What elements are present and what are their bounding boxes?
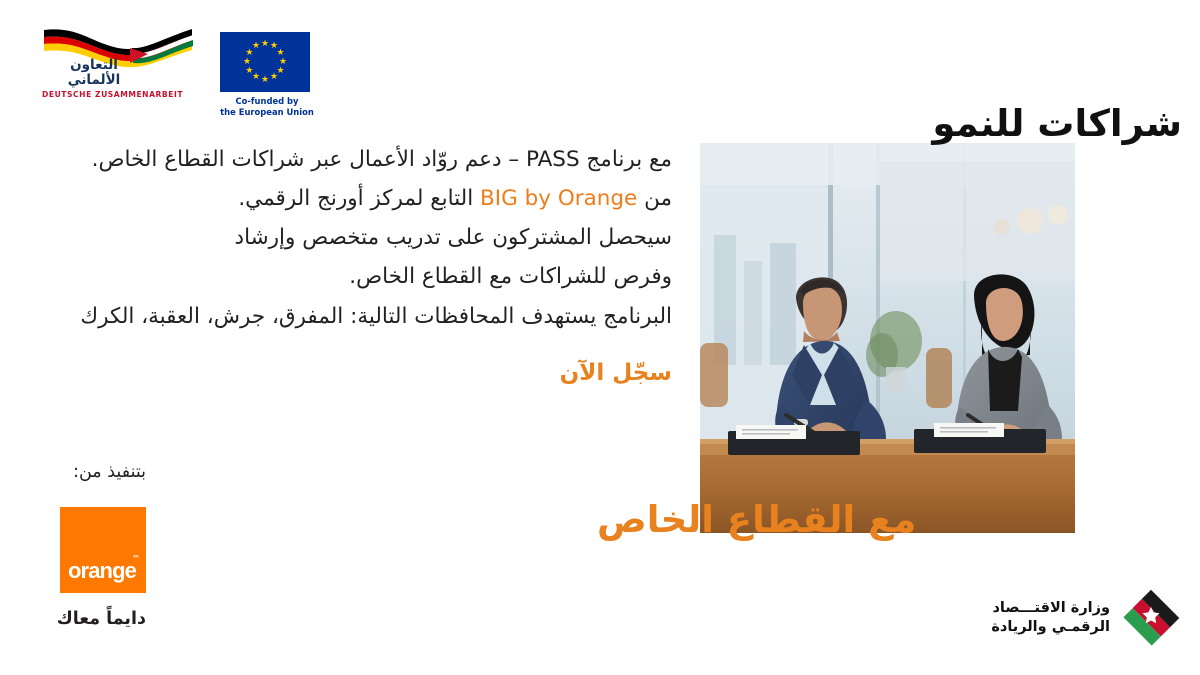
- ministry-name: وزارة الاقتـــصاد الرقمـي والريادة: [991, 599, 1110, 637]
- body-copy-line: البرنامج يستهدف المحافظات التالية: المفر…: [52, 297, 672, 336]
- body-copy-line: مع برنامج PASS – دعم روّاد الأعمال عبر ش…: [52, 140, 672, 179]
- body-copy-lines: مع برنامج PASS – دعم روّاد الأعمال عبر ش…: [52, 140, 672, 336]
- body-copy-line: سيحصل المشتركون على تدريب متخصص وإرشاد: [52, 218, 672, 257]
- eu-star-icon: ★: [261, 40, 270, 49]
- body-copy-text: مع برنامج PASS – دعم روّاد الأعمال عبر ش…: [92, 147, 672, 172]
- ministry-name-line1: وزارة الاقتـــصاد: [991, 599, 1110, 618]
- ministry-logo-block: وزارة الاقتـــصاد الرقمـي والريادة: [991, 587, 1182, 649]
- gc-latin-caption: DEUTSCHE ZUSAMMENARBEIT: [42, 91, 146, 100]
- eu-cofunded-logo: ★★★★★★★★★★★★ Co-funded by the European U…: [220, 32, 314, 117]
- jordan-diamond-icon: [1120, 587, 1182, 649]
- body-copy: مع برنامج PASS – دعم روّاد الأعمال عبر ش…: [52, 140, 672, 386]
- eu-flag-icon: ★★★★★★★★★★★★: [220, 32, 310, 92]
- big-by-orange-brand-text: BIG by Orange: [480, 179, 637, 218]
- eu-star-icon: ★: [252, 42, 261, 51]
- campaign-poster: التعاون الألماني DEUTSCHE ZUSAMMENARBEIT…: [0, 0, 1200, 675]
- body-copy-text: وفرص للشراكات مع القطاع الخاص.: [349, 264, 672, 289]
- signing-ceremony-photo: [700, 143, 1075, 533]
- implemented-by-label: بتنفيذ من:: [36, 462, 146, 482]
- poster-headline: شراكات للنمو: [932, 102, 1182, 145]
- ministry-name-line2: الرقمـي والريادة: [991, 618, 1110, 637]
- photo-illustration: [700, 143, 1075, 533]
- register-now-cta[interactable]: سجّل الآن: [52, 360, 672, 386]
- orange-wordmark: orange: [68, 558, 136, 584]
- eu-caption: Co-funded by the European Union: [220, 96, 314, 117]
- poster-subline: مع القطاع الخاص: [597, 498, 916, 541]
- body-copy-line: من BIG by Orange التابع لمركز أورنج الرق…: [52, 179, 672, 218]
- german-cooperation-logo: التعاون الألماني DEUTSCHE ZUSAMMENARBEIT: [38, 22, 198, 114]
- eu-star-icon: ★: [245, 67, 254, 76]
- implemented-by-block: بتنفيذ من: orange ™ دايماً معاك: [36, 462, 146, 629]
- body-copy-text: التابع لمركز أورنج الرقمي.: [238, 186, 480, 211]
- body-copy-text: من: [637, 186, 672, 211]
- eu-star-icon: ★: [270, 73, 279, 82]
- orange-tagline: دايماً معاك: [36, 609, 146, 629]
- orange-logo: orange ™: [60, 507, 146, 593]
- german-cooperation-wordmark: التعاون الألماني DEUTSCHE ZUSAMMENARBEIT: [42, 58, 146, 100]
- body-copy-text: البرنامج يستهدف المحافظات التالية: المفر…: [80, 304, 672, 329]
- eu-star-icon: ★: [243, 58, 252, 67]
- donor-logo-row: التعاون الألماني DEUTSCHE ZUSAMMENARBEIT…: [0, 0, 420, 130]
- eu-star-icon: ★: [261, 76, 270, 85]
- gc-arabic-line2: الألماني: [42, 73, 146, 88]
- gc-arabic-line1: التعاون: [42, 58, 146, 73]
- body-copy-line: وفرص للشراكات مع القطاع الخاص.: [52, 257, 672, 296]
- eu-caption-line1: Co-funded by: [220, 96, 314, 107]
- body-copy-text: سيحصل المشتركون على تدريب متخصص وإرشاد: [235, 225, 672, 250]
- orange-trademark-symbol: ™: [132, 554, 140, 563]
- eu-caption-line2: the European Union: [220, 107, 314, 118]
